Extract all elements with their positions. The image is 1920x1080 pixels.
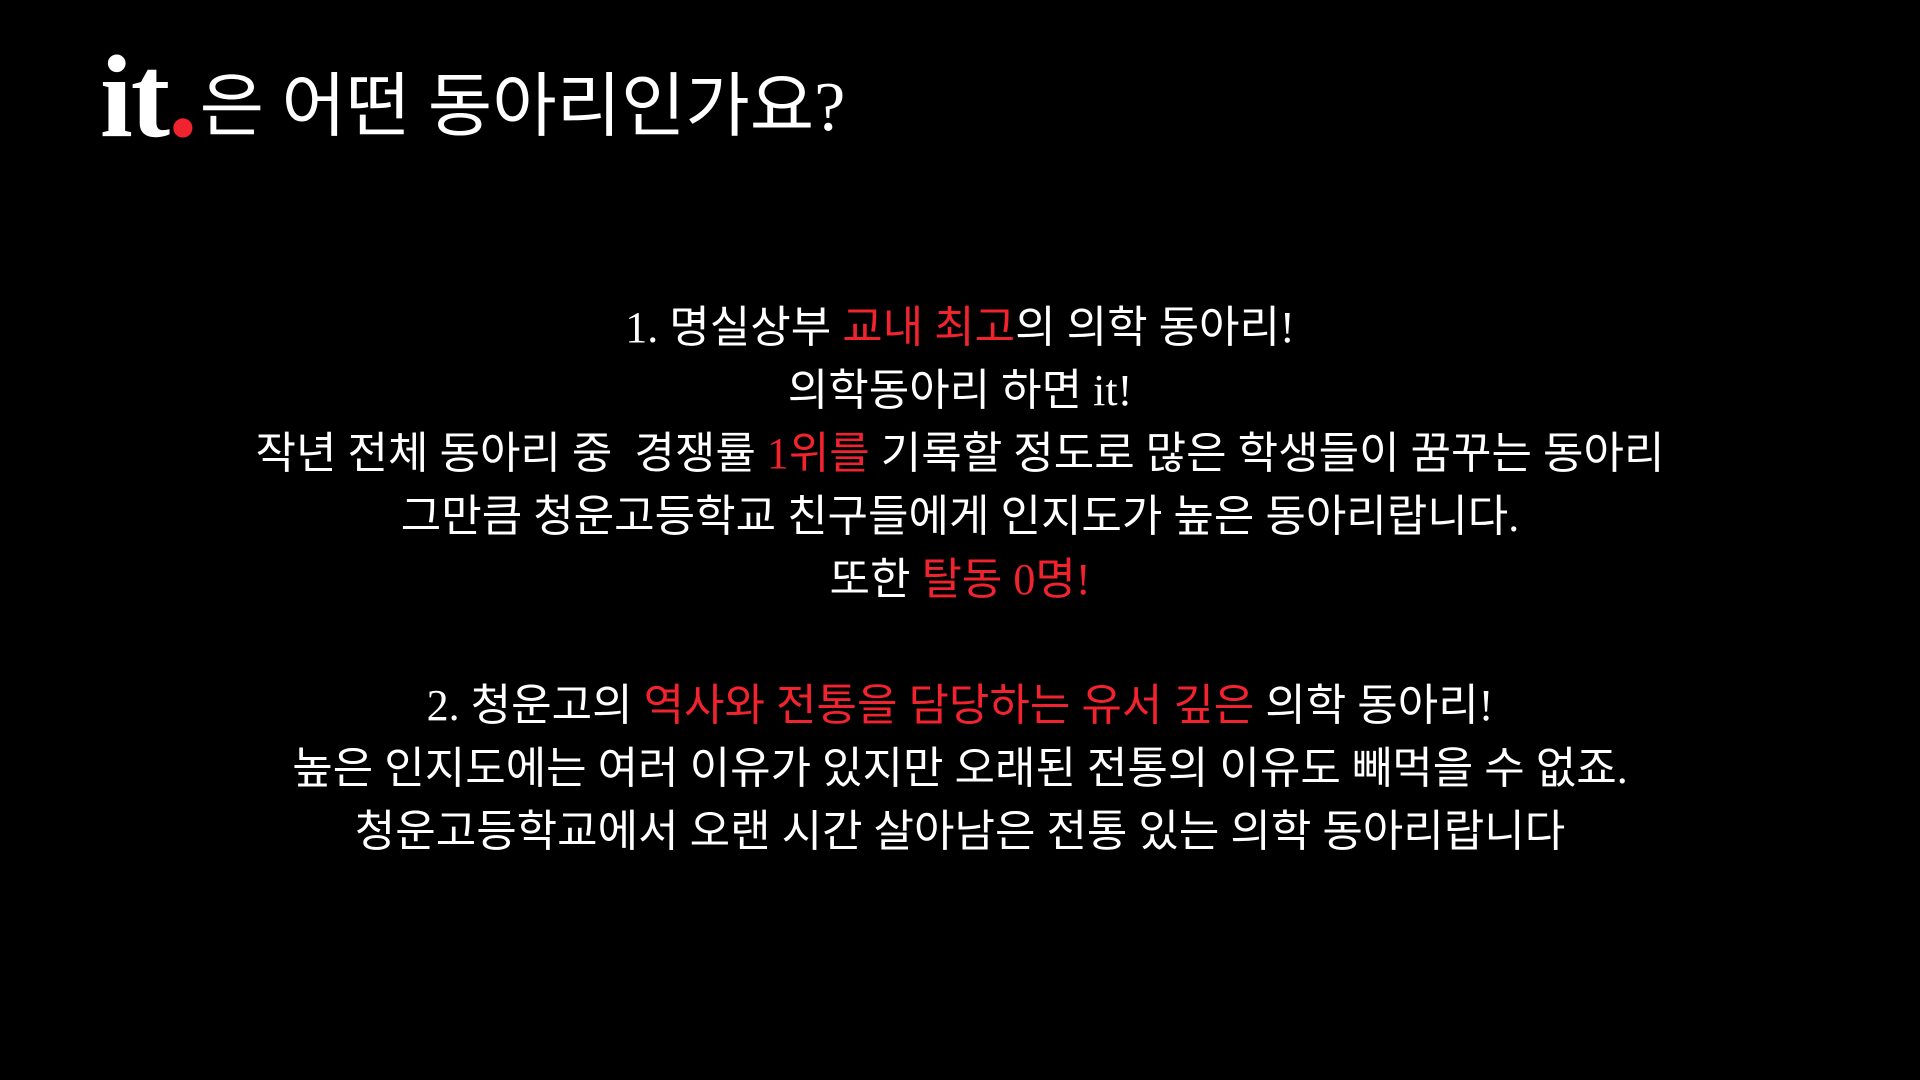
body-text: 청운고등학교에서 오랜 시간 살아남은 전통 있는 의학 동아리랍니다 [355,807,1565,856]
body-content: 1. 명실상부 교내 최고의 의학 동아리! 의학동아리 하면 it! 작년 전… [0,296,1920,863]
body-line: 청운고등학교에서 오랜 시간 살아남은 전통 있는 의학 동아리랍니다 [0,800,1920,863]
body-text: 1. 명실상부 [625,303,842,352]
slide-canvas: it. 은 어떤 동아리인가요? 1. 명실상부 교내 최고의 의학 동아리! … [0,0,1920,1080]
highlight-text: 교내 최고 [842,303,1015,352]
body-text: 2. 청운고의 [427,681,644,730]
highlight-text: 1위를 [767,429,870,478]
body-line: 그만큼 청운고등학교 친구들에게 인지도가 높은 동아리랍니다. [0,485,1920,548]
body-text: 또한 [829,555,921,604]
it-logo: it. [100,38,196,156]
body-text: 작년 전체 동아리 중 경쟁률 [256,429,767,478]
page-title: 은 어떤 동아리인가요? [200,73,846,143]
logo-wordmark: it [100,31,168,162]
highlight-text: 역사와 전통을 담당하는 유서 깊은 [644,681,1255,730]
body-line: 의학동아리 하면 it! [0,359,1920,422]
paragraph-1: 1. 명실상부 교내 최고의 의학 동아리! 의학동아리 하면 it! 작년 전… [0,296,1920,611]
body-text: 기록할 정도로 많은 학생들이 꿈꾸는 동아리 [870,429,1665,478]
highlight-text: 탈동 0명! [921,555,1090,604]
body-line: 2. 청운고의 역사와 전통을 담당하는 유서 깊은 의학 동아리! [0,674,1920,737]
slide-title: it. 은 어떤 동아리인가요? [100,38,845,156]
paragraph-spacer [0,611,1920,674]
logo-dot-icon: . [168,31,196,162]
paragraph-2: 2. 청운고의 역사와 전통을 담당하는 유서 깊은 의학 동아리! 높은 인지… [0,674,1920,863]
body-line: 높은 인지도에는 여러 이유가 있지만 오래된 전통의 이유도 빼먹을 수 없죠… [0,737,1920,800]
body-text: 의학동아리 하면 it! [788,366,1132,415]
body-text: 높은 인지도에는 여러 이유가 있지만 오래된 전통의 이유도 빼먹을 수 없죠… [292,744,1627,793]
body-line: 1. 명실상부 교내 최고의 의학 동아리! [0,296,1920,359]
body-line: 또한 탈동 0명! [0,548,1920,611]
body-text: 의 의학 동아리! [1015,303,1295,352]
body-text: 의학 동아리! [1254,681,1493,730]
body-text: 그만큼 청운고등학교 친구들에게 인지도가 높은 동아리랍니다. [401,492,1519,541]
body-line: 작년 전체 동아리 중 경쟁률 1위를 기록할 정도로 많은 학생들이 꿈꾸는 … [0,422,1920,485]
